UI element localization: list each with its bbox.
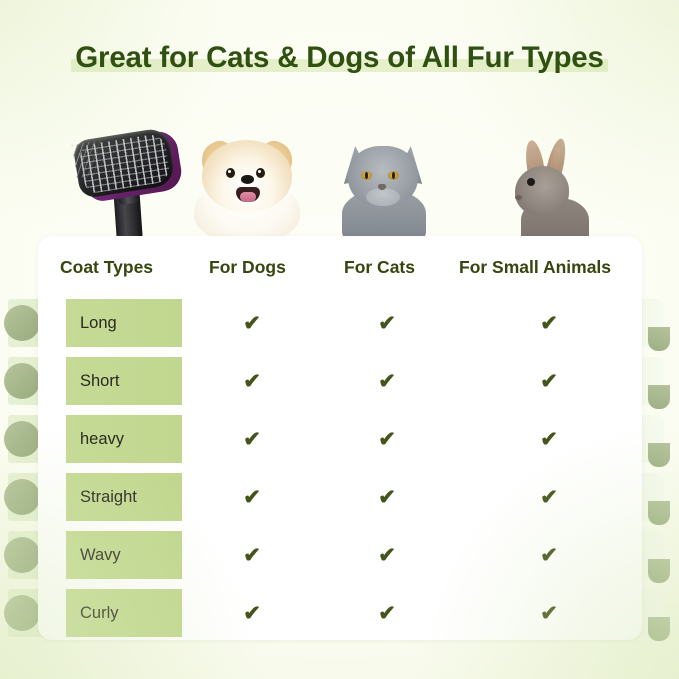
check-for-cats: ✔	[376, 357, 398, 405]
page-title-inner: Great for Cats & Dogs of All Fur Types	[71, 42, 607, 74]
coat-type-label: Straight	[80, 473, 137, 521]
table-body: Long✔✔✔Short✔✔✔heavy✔✔✔Straight✔✔✔Wavy✔✔…	[0, 0, 679, 679]
check-for-small-animals: ✔	[538, 589, 560, 637]
check-for-cats: ✔	[376, 415, 398, 463]
table-row[interactable]: heavy✔✔✔	[38, 415, 642, 463]
coat-type-label: heavy	[80, 415, 124, 463]
check-for-cats: ✔	[376, 531, 398, 579]
table-row[interactable]: Long✔✔✔	[38, 299, 642, 347]
check-for-dogs: ✔	[241, 531, 263, 579]
table-row[interactable]: Wavy✔✔✔	[38, 531, 642, 579]
table-row[interactable]: Straight✔✔✔	[38, 473, 642, 521]
check-for-dogs: ✔	[241, 357, 263, 405]
check-for-small-animals: ✔	[538, 531, 560, 579]
coat-type-label: Short	[80, 357, 119, 405]
page-title: Great for Cats & Dogs of All Fur Types	[75, 42, 603, 74]
check-for-small-animals: ✔	[538, 473, 560, 521]
check-for-cats: ✔	[376, 473, 398, 521]
check-for-small-animals: ✔	[538, 357, 560, 405]
check-for-dogs: ✔	[241, 473, 263, 521]
check-for-cats: ✔	[376, 299, 398, 347]
coat-type-label: Wavy	[80, 531, 121, 579]
check-for-cats: ✔	[376, 589, 398, 637]
check-for-small-animals: ✔	[538, 415, 560, 463]
product-infographic: Great for Cats & Dogs of All Fur Types	[0, 0, 679, 679]
check-for-dogs: ✔	[241, 589, 263, 637]
check-for-dogs: ✔	[241, 299, 263, 347]
page-title-wrap: Great for Cats & Dogs of All Fur Types	[0, 42, 679, 74]
check-for-small-animals: ✔	[538, 299, 560, 347]
coat-type-label: Curly	[80, 589, 119, 637]
check-for-dogs: ✔	[241, 415, 263, 463]
table-row[interactable]: Short✔✔✔	[38, 357, 642, 405]
table-row[interactable]: Curly✔✔✔	[38, 589, 642, 637]
coat-type-label: Long	[80, 299, 117, 347]
